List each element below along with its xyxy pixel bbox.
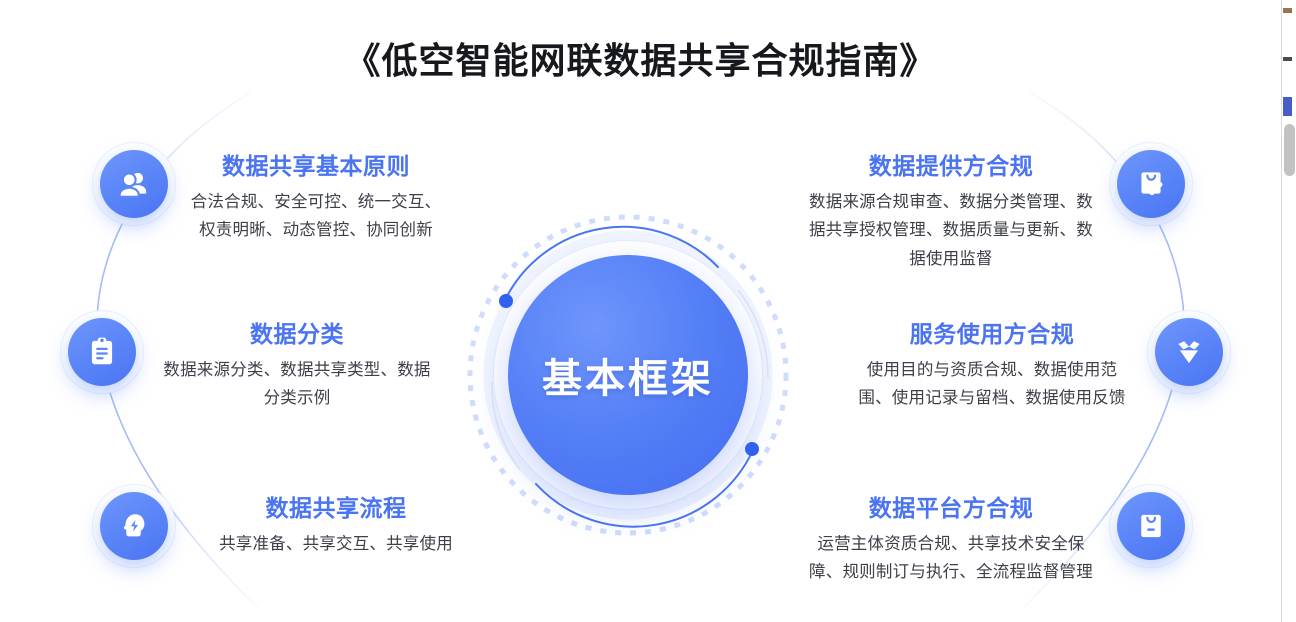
node-description: 合法合规、安全可控、统一交互、权责明晰、动态管控、协同创新 — [190, 188, 442, 245]
node-title: 数据分类 — [158, 320, 436, 349]
users-icon — [100, 150, 168, 218]
clipboard-icon — [68, 318, 136, 386]
node-description: 数据来源合规审查、数据分类管理、数据共享授权管理、数据质量与更新、数据使用监督 — [807, 188, 1095, 273]
scrollbar-thumb[interactable] — [1284, 124, 1295, 176]
node-title: 数据提供方合规 — [807, 152, 1095, 181]
node-data-sharing-process[interactable]: 数据共享流程 共享准备、共享交互、共享使用 — [100, 492, 482, 560]
node-title: 数据平台方合规 — [807, 494, 1095, 523]
brain-bolt-icon — [100, 492, 168, 560]
node-description: 使用目的与资质合规、数据使用范围、使用记录与留档、数据使用反馈 — [851, 356, 1133, 413]
node-text-block: 数据分类 数据来源分类、数据共享类型、数据分类示例 — [158, 318, 436, 413]
center-hub: 基本框架 — [508, 255, 748, 495]
node-text-block: 数据共享流程 共享准备、共享交互、共享使用 — [190, 492, 482, 558]
node-title: 服务使用方合规 — [851, 320, 1133, 349]
node-text-block: 数据提供方合规 数据来源合规审查、数据分类管理、数据共享授权管理、数据质量与更新… — [807, 150, 1095, 273]
node-description: 数据来源分类、数据共享类型、数据分类示例 — [158, 356, 436, 413]
hub-arc-dot-top — [499, 294, 513, 308]
node-text-block: 数据平台方合规 运营主体资质合规、共享技术安全保障、规则制订与执行、全流程监督管… — [807, 492, 1095, 587]
diagram-canvas: 《低空智能网联数据共享合规指南》 — [0, 0, 1281, 622]
vertical-scrollbar[interactable] — [1281, 0, 1296, 622]
infographic-page: 《低空智能网联数据共享合规指南》 — [0, 0, 1296, 622]
document-tag-icon — [1117, 492, 1185, 560]
node-description: 运营主体资质合规、共享技术安全保障、规则制订与执行、全流程监督管理 — [807, 530, 1095, 587]
node-data-sharing-principles[interactable]: 数据共享基本原则 合法合规、安全可控、统一交互、权责明晰、动态管控、协同创新 — [100, 150, 442, 245]
node-text-block: 服务使用方合规 使用目的与资质合规、数据使用范围、使用记录与留档、数据使用反馈 — [851, 318, 1133, 413]
page-title: 《低空智能网联数据共享合规指南》 — [0, 32, 1281, 84]
document-check-icon — [1117, 150, 1185, 218]
node-description: 共享准备、共享交互、共享使用 — [190, 530, 482, 558]
clipped-content-fleck — [1283, 8, 1292, 13]
node-title: 数据共享基本原则 — [190, 152, 442, 181]
node-data-classification[interactable]: 数据分类 数据来源分类、数据共享类型、数据分类示例 — [68, 318, 436, 413]
clipped-content-fleck — [1283, 97, 1292, 116]
node-platform-compliance[interactable]: 数据平台方合规 运营主体资质合规、共享技术安全保障、规则制订与执行、全流程监督管… — [807, 492, 1185, 587]
node-title: 数据共享流程 — [190, 494, 482, 523]
node-service-consumer-compliance[interactable]: 服务使用方合规 使用目的与资质合规、数据使用范围、使用记录与留档、数据使用反馈 — [851, 318, 1223, 413]
center-hub-label: 基本框架 — [542, 346, 714, 404]
open-box-icon — [1155, 318, 1223, 386]
hub-arc-dot-bottom — [745, 442, 759, 456]
node-data-provider-compliance[interactable]: 数据提供方合规 数据来源合规审查、数据分类管理、数据共享授权管理、数据质量与更新… — [807, 150, 1185, 273]
clipped-content-fleck — [1283, 57, 1292, 61]
node-text-block: 数据共享基本原则 合法合规、安全可控、统一交互、权责明晰、动态管控、协同创新 — [190, 150, 442, 245]
